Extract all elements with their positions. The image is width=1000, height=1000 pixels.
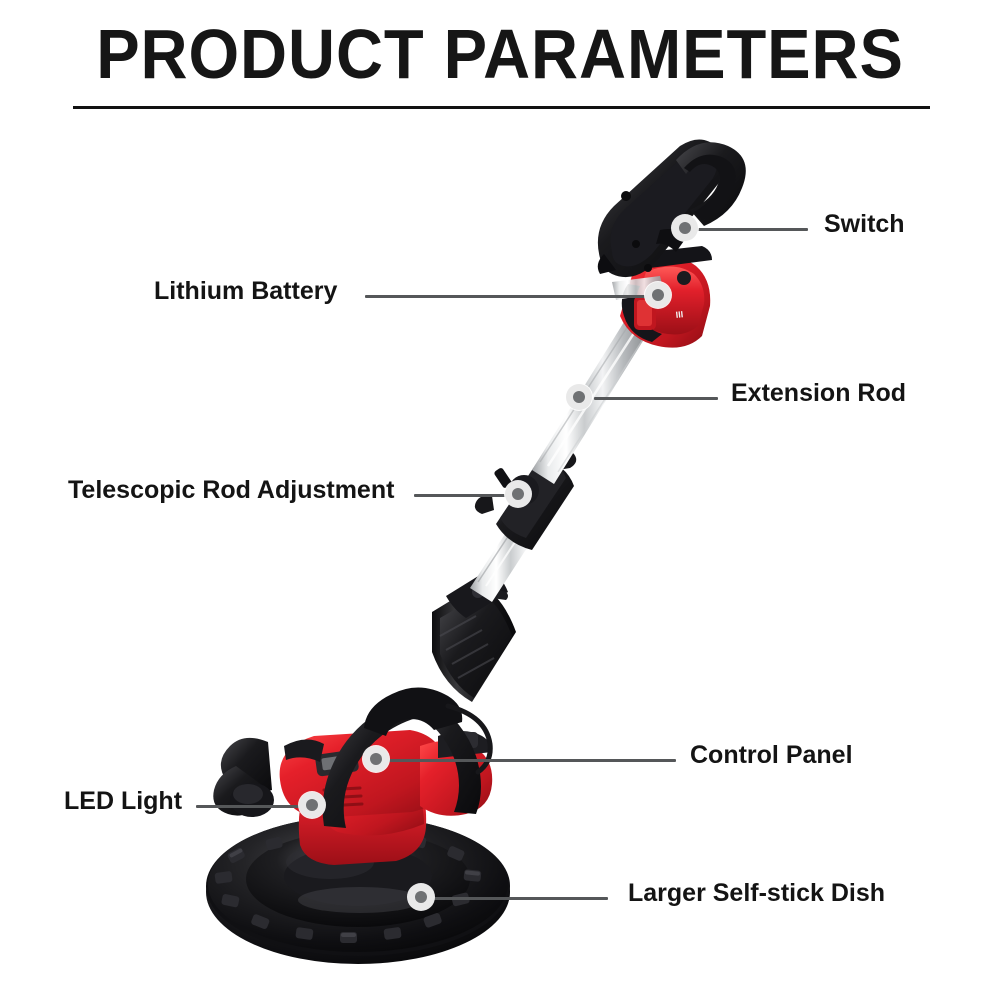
- callout-label-led-light: LED Light: [64, 789, 182, 814]
- svg-text:III: III: [675, 309, 684, 320]
- callout-label-switch: Switch: [824, 212, 905, 237]
- marker-larger-self-stick-dish: [408, 884, 434, 910]
- callout-label-lithium-battery: Lithium Battery: [154, 279, 337, 304]
- marker-telescopic-rod-adjustment: [505, 481, 531, 507]
- leader-line-extension-rod: [594, 397, 718, 400]
- marker-extension-rod: [566, 384, 592, 410]
- marker-lithium-battery: [645, 282, 671, 308]
- leader-line-control-panel: [378, 759, 676, 762]
- leader-line-telescopic-rod-adjustment: [414, 494, 510, 497]
- callout-label-telescopic-rod-adjustment: Telescopic Rod Adjustment: [68, 478, 394, 503]
- leader-line-led-light: [196, 805, 308, 808]
- leader-line-lithium-battery: [365, 295, 658, 298]
- marker-control-panel: [363, 746, 389, 772]
- callout-label-larger-self-stick-dish: Larger Self-stick Dish: [628, 881, 885, 906]
- marker-led-light: [299, 792, 325, 818]
- callout-label-control-panel: Control Panel: [690, 743, 853, 768]
- leader-line-switch: [686, 228, 808, 231]
- callout-label-extension-rod: Extension Rod: [731, 381, 906, 406]
- product-parameters-page: PRODUCT PARAMETERS: [0, 0, 1000, 1000]
- leader-line-larger-self-stick-dish: [434, 897, 608, 900]
- marker-switch: [672, 215, 698, 241]
